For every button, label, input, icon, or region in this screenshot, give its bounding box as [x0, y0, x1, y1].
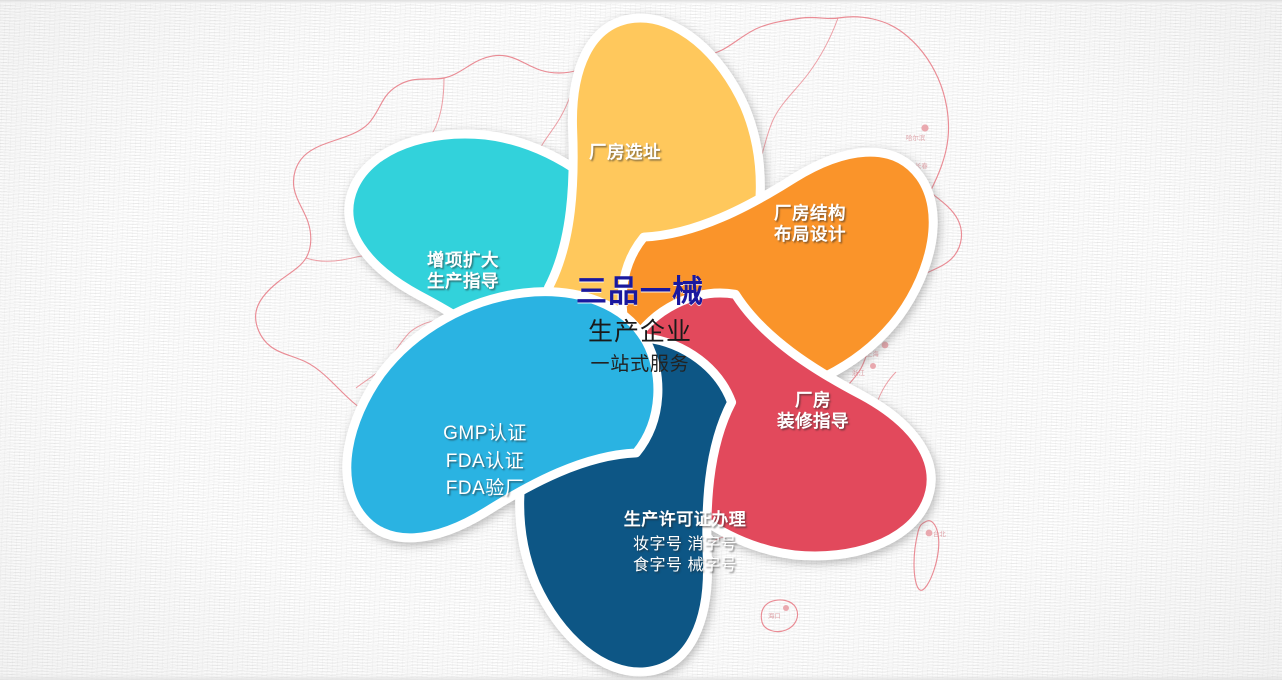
- petal-group: [327, 0, 953, 680]
- six-petal-pinwheel-diagram: [0, 0, 1282, 680]
- diagram-canvas: 哈尔滨 长春 沈阳 上海 浙江 福州 台北 广州 海口: [0, 0, 1282, 680]
- bottom-edge-fade: [0, 675, 1282, 680]
- top-edge-fade: [0, 0, 1282, 4]
